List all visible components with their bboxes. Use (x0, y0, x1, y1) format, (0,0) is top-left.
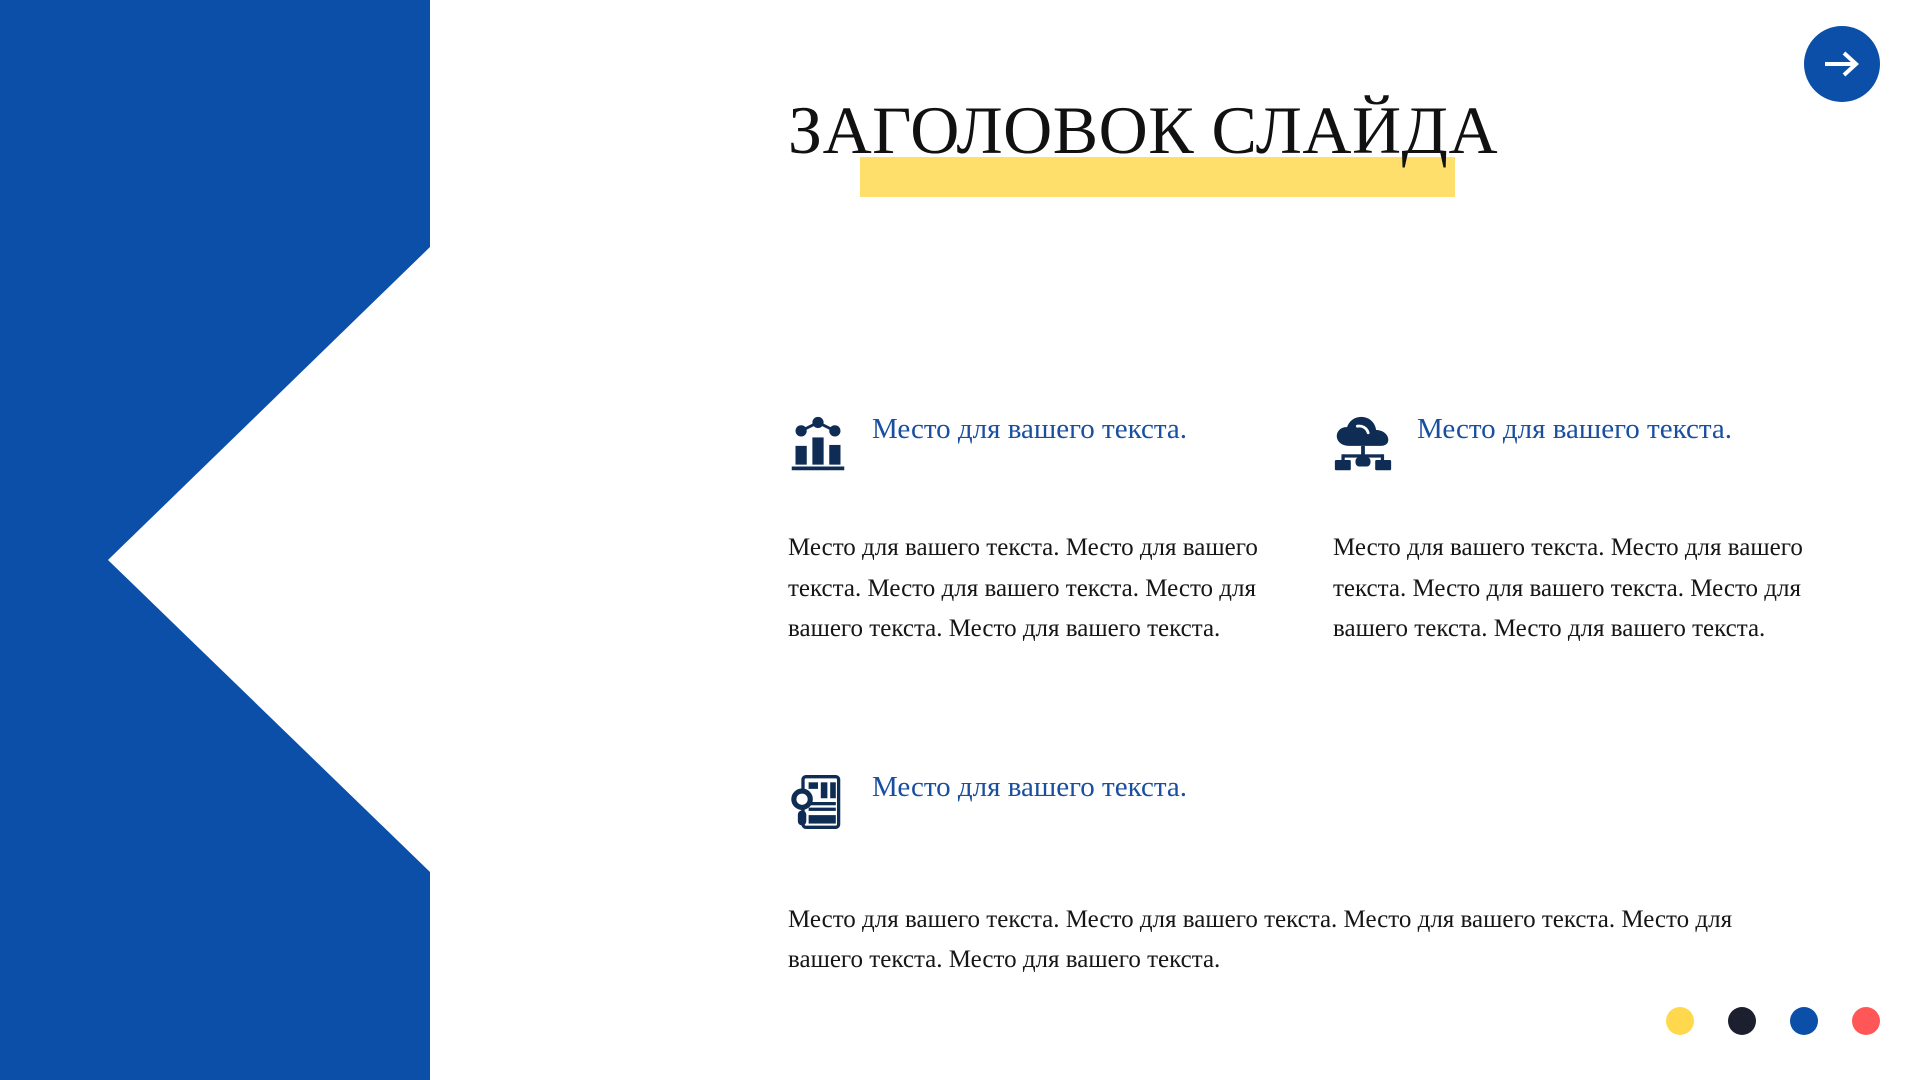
bar-chart-icon (788, 414, 848, 474)
feature-header-1: Место для вашего текста. (788, 410, 1303, 482)
slide-content: ЗАГОЛОВОК СЛАЙДА (788, 0, 1848, 1080)
feature-item-1: Место для вашего текста. Место для вашег… (788, 410, 1303, 650)
feature-body-2: Место для вашего текста. Место для вашег… (1333, 528, 1848, 650)
feature-header-2: Место для вашего текста. (1333, 410, 1848, 482)
feature-row-bottom: Место для вашего текста. Место для вашег… (788, 768, 1848, 981)
left-blue-chevron (0, 0, 430, 1080)
feature-title-2: Место для вашего текста. (1417, 410, 1732, 448)
feature-item-3: Место для вашего текста. Место для вашег… (788, 768, 1848, 981)
feature-item-2: Место для вашего текста. Место для вашег… (1333, 410, 1848, 650)
dot-red (1852, 1007, 1880, 1035)
feature-grid: Место для вашего текста. Место для вашег… (788, 410, 1848, 981)
dot-yellow (1666, 1007, 1694, 1035)
feature-body-3: Место для вашего текста. Место для вашег… (788, 900, 1798, 981)
arrow-right-icon (1822, 49, 1862, 79)
dot-blue (1790, 1007, 1818, 1035)
feature-title-3: Место для вашего текста. (872, 768, 1187, 806)
document-search-icon (788, 772, 848, 832)
dot-dark (1728, 1007, 1756, 1035)
feature-row-top: Место для вашего текста. Место для вашег… (788, 410, 1848, 650)
title-block: ЗАГОЛОВОК СЛАЙДА (788, 95, 1498, 205)
cloud-network-icon (1333, 414, 1393, 474)
row-spacer (788, 650, 1848, 768)
chevron-shape (0, 0, 430, 1080)
slide-canvas: ЗАГОЛОВОК СЛАЙДА (0, 0, 1920, 1080)
next-slide-button[interactable] (1804, 26, 1880, 102)
feature-header-3: Место для вашего текста. (788, 768, 1848, 840)
page-title: ЗАГОЛОВОК СЛАЙДА (788, 95, 1498, 166)
feature-title-1: Место для вашего текста. (872, 410, 1187, 448)
feature-body-1: Место для вашего текста. Место для вашег… (788, 528, 1303, 650)
palette-dots (1666, 1007, 1880, 1035)
